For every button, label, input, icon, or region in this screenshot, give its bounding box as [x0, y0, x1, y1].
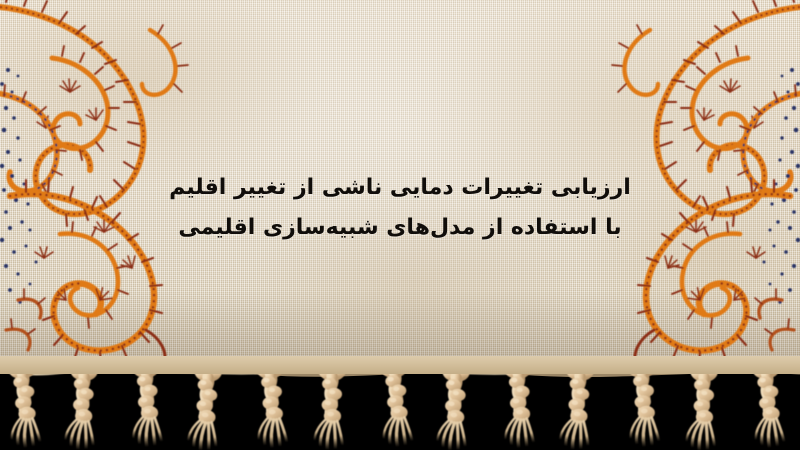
title-line-2: با استفاده از مدل‌های شبیه‌سازی اقلیمی	[0, 208, 800, 248]
presentation-slide: ارزیابی تغییرات دمایی ناشی از تغییر اقلی…	[0, 0, 800, 450]
slide-title: ارزیابی تغییرات دمایی ناشی از تغییر اقلی…	[0, 168, 800, 248]
title-line-1: ارزیابی تغییرات دمایی ناشی از تغییر اقلی…	[0, 168, 800, 208]
cloth-bottom-edge	[0, 356, 800, 372]
